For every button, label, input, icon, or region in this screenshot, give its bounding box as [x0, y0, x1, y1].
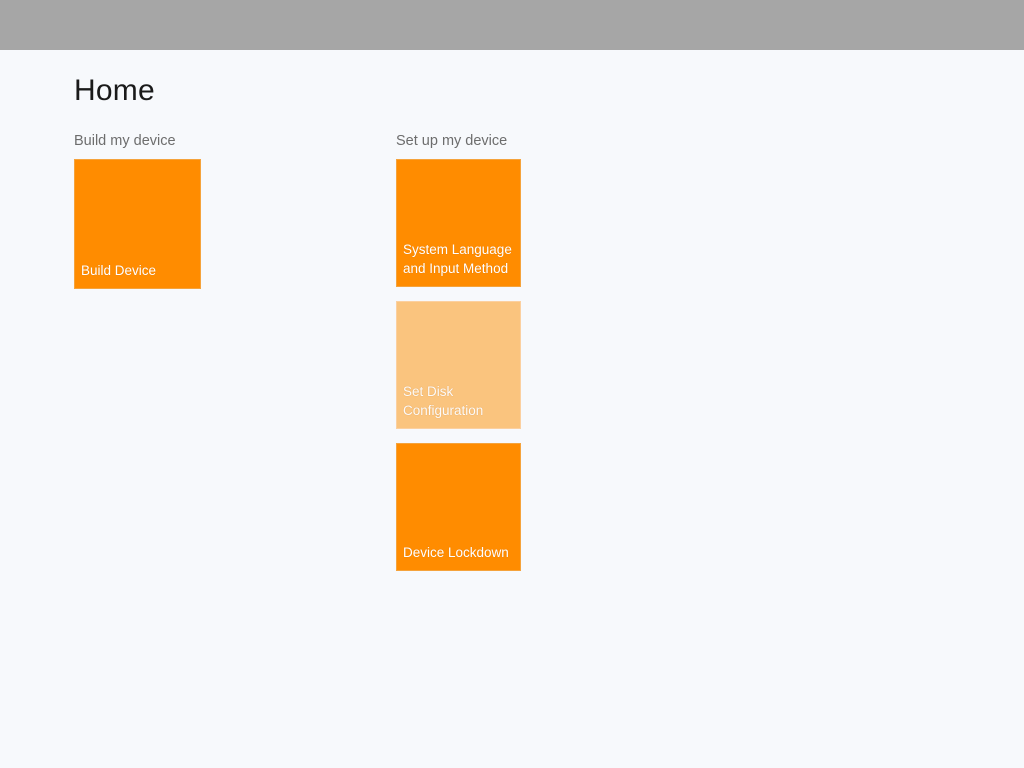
group-heading-build-my-device: Build my device — [74, 132, 176, 150]
group-build-my-device: Build my device Build Device — [74, 132, 396, 289]
tile-device-lockdown[interactable]: Device Lockdown — [396, 443, 521, 571]
group-heading-set-up-my-device: Set up my device — [396, 132, 507, 150]
title-bar — [0, 0, 1024, 50]
page-content: Home Build my device Build Device Set up… — [0, 50, 1024, 768]
tile-label-build-device: Build Device — [81, 261, 196, 280]
tile-build-device[interactable]: Build Device — [74, 159, 201, 289]
tile-label-system-language-and-input-method: System Language and Input Method — [403, 240, 516, 278]
tile-label-device-lockdown: Device Lockdown — [403, 543, 516, 562]
tile-label-set-disk-configuration: Set Disk Configuration — [403, 382, 516, 420]
tile-set-disk-configuration[interactable]: Set Disk Configuration — [396, 301, 521, 429]
page-title: Home — [74, 73, 155, 109]
tile-list-build-my-device: Build Device — [74, 159, 201, 289]
group-set-up-my-device: Set up my device System Language and Inp… — [396, 132, 521, 571]
tile-system-language-and-input-method[interactable]: System Language and Input Method — [396, 159, 521, 287]
tile-groups: Build my device Build Device Set up my d… — [74, 132, 521, 571]
tile-list-set-up-my-device: System Language and Input Method Set Dis… — [396, 159, 521, 571]
application-window: Home Build my device Build Device Set up… — [0, 0, 1024, 768]
